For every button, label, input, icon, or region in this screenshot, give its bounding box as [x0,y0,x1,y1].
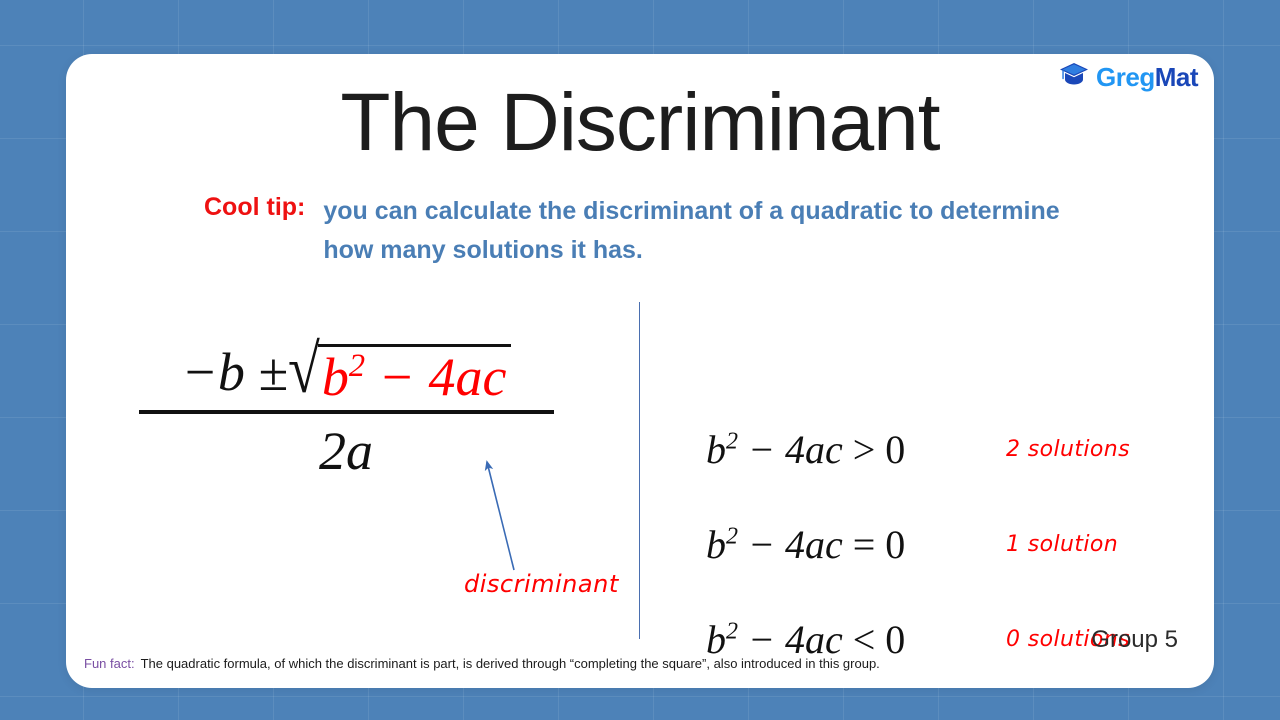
formula-numerator-prefix: −b ± [181,344,288,401]
case-row: b2 − 4ac = 0 1 solution [706,497,1214,592]
case-equation: b2 − 4ac > 0 [706,426,1006,473]
radicand-rest: − 4ac [379,347,507,407]
formula-radicand: b2 − 4ac [318,344,511,406]
radical-sign-icon: √ [288,334,320,406]
column-divider [639,302,640,639]
formula-numerator: −b ± √ b2 − 4ac [181,344,510,406]
fun-fact-label: Fun fact: [84,656,135,671]
formula-denominator: 2a [106,414,586,486]
case-operator: = 0 [853,522,906,567]
fun-fact-text: The quadratic formula, of which the disc… [141,656,880,671]
radicand-exponent: 2 [349,348,365,384]
discriminant-annotation: discriminant [464,570,619,598]
case-base: b [706,522,726,567]
case-rest: − 4ac [748,427,843,472]
case-operator: > 0 [853,427,906,472]
quadratic-formula: −b ± √ b2 − 4ac 2a [106,344,586,485]
group-label: Group 5 [1091,626,1178,654]
cool-tip-label: Cool tip: [204,192,305,222]
footer-note: Fun fact: The quadratic formula, of whic… [84,656,880,671]
case-result: 2 solutions [1006,437,1130,462]
page-title: The Discriminant [66,82,1214,164]
case-exponent: 2 [726,429,738,455]
slide-card: GregMat The Discriminant Cool tip: you c… [66,54,1214,688]
cool-tip-body: you can calculate the discriminant of a … [323,192,1093,270]
case-result: 1 solution [1006,532,1118,557]
case-base: b [706,427,726,472]
case-exponent: 2 [726,619,738,645]
cool-tip-block: Cool tip: you can calculate the discrimi… [204,192,1093,270]
case-exponent: 2 [726,524,738,550]
radicand-base: b [322,347,349,407]
case-equation: b2 − 4ac = 0 [706,521,1006,568]
case-rest: − 4ac [748,522,843,567]
case-row: b2 − 4ac > 0 2 solutions [706,402,1214,497]
